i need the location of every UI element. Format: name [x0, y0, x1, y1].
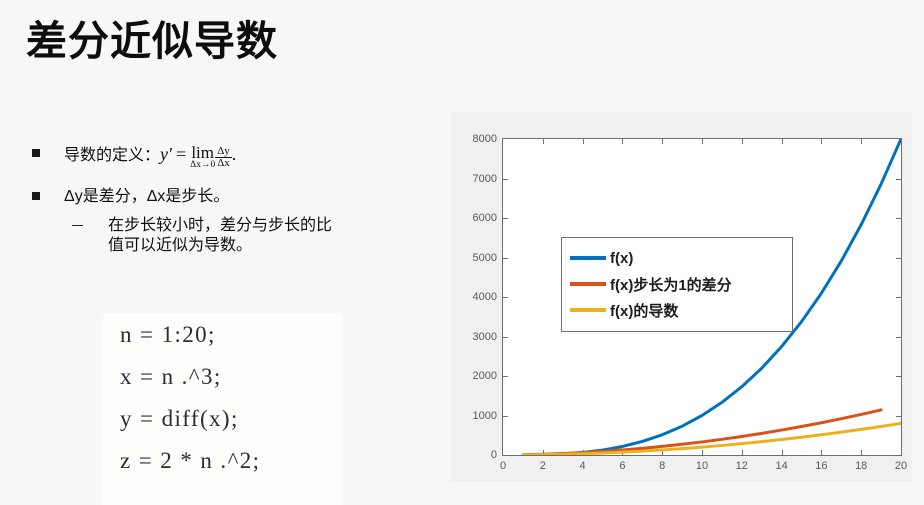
legend-label: f(x) — [610, 250, 633, 267]
sub-bullet-item: 在步长较小时，差分与步长的比 值可以近似为导数。 — [64, 216, 438, 258]
sub-bullet-line-2: 值可以近似为导数。 — [108, 237, 252, 254]
x-axis-tick-label: 14 — [775, 460, 787, 472]
limit-operator: lim — [190, 144, 215, 161]
y-axis-tick-label: 8000 — [473, 133, 497, 145]
x-axis-tick-label: 0 — [500, 460, 506, 472]
legend-line-swatch-fx — [570, 256, 606, 259]
x-axis-tick-label: 20 — [895, 460, 907, 472]
bullet-item-delta: Δy是差分，Δx是步长。 — [28, 185, 438, 208]
x-axis-tick-label: 6 — [619, 460, 625, 472]
bullet-list: 导数的定义：y′=limΔx→0ΔyΔx. Δy是差分，Δx是步长。 在步长较小… — [28, 142, 438, 257]
page-title: 差分近似导数 — [26, 18, 278, 65]
formula-trailing-period: . — [232, 144, 237, 164]
formula-limit: limΔx→0 — [190, 144, 215, 171]
y-axis-tick-label: 2000 — [473, 370, 497, 382]
x-axis-tick-label: 2 — [540, 460, 546, 472]
fraction-numerator: Δy — [215, 146, 232, 157]
legend-entry: f(x)步长为1的差分 — [570, 271, 784, 297]
code-block: n = 1:20; x = n .^3; y = diff(x); z = 2 … — [103, 313, 342, 505]
legend-line-swatch-derivative — [570, 308, 606, 311]
formula-fraction: ΔyΔx — [215, 146, 232, 169]
dash-bullet-icon — [72, 225, 83, 227]
legend-label: f(x)的导数 — [610, 300, 678, 321]
bullet-text: Δy是差分，Δx是步长。 — [64, 188, 229, 205]
formula-lhs: y′ — [160, 144, 172, 164]
code-line: n = 1:20; — [103, 323, 342, 346]
x-axis-tick-label: 12 — [736, 460, 748, 472]
x-axis-tick-label: 8 — [659, 460, 665, 472]
x-axis-tick-label: 4 — [580, 460, 586, 472]
y-axis-tick-label: 6000 — [473, 212, 497, 224]
x-axis-tick-label: 10 — [696, 460, 708, 472]
chart-legend: f(x) f(x)步长为1的差分 f(x)的导数 — [561, 237, 793, 332]
sub-bullet-line-1: 在步长较小时，差分与步长的比 — [108, 217, 332, 234]
y-axis-tick-label: 3000 — [473, 331, 497, 343]
code-line: y = diff(x); — [103, 407, 342, 430]
code-line: x = n .^3; — [103, 365, 342, 388]
y-axis-tick-label: 5000 — [473, 252, 497, 264]
square-bullet-icon — [32, 149, 40, 157]
legend-line-swatch-diff — [570, 282, 606, 285]
fraction-denominator: Δx — [215, 157, 232, 169]
plot-area: 010002000300040005000600070008000 024681… — [502, 138, 902, 456]
chart-panel: 010002000300040005000600070008000 024681… — [450, 112, 912, 482]
limit-subscript: Δx→0 — [190, 161, 215, 171]
square-bullet-icon — [32, 192, 40, 200]
x-axis-tick-label: 16 — [815, 460, 827, 472]
bullet-item-definition: 导数的定义：y′=limΔx→0ΔyΔx. — [28, 142, 438, 171]
legend-label: f(x)步长为1的差分 — [610, 274, 732, 295]
bullet-text-prefix: 导数的定义： — [64, 147, 160, 164]
code-line: z = 2 * n .^2; — [103, 449, 342, 472]
y-axis-tick-label: 4000 — [473, 291, 497, 303]
legend-entry: f(x)的导数 — [570, 297, 784, 323]
legend-entry: f(x) — [570, 245, 784, 271]
y-axis-tick-label: 0 — [491, 449, 497, 461]
y-axis-tick-label: 7000 — [473, 173, 497, 185]
formula-equals: = — [172, 144, 190, 164]
x-axis-tick-label: 18 — [855, 460, 867, 472]
y-axis-tick-label: 1000 — [473, 410, 497, 422]
slide-root: 差分近似导数 导数的定义：y′=limΔx→0ΔyΔx. Δy是差分，Δx是步长… — [0, 0, 924, 505]
